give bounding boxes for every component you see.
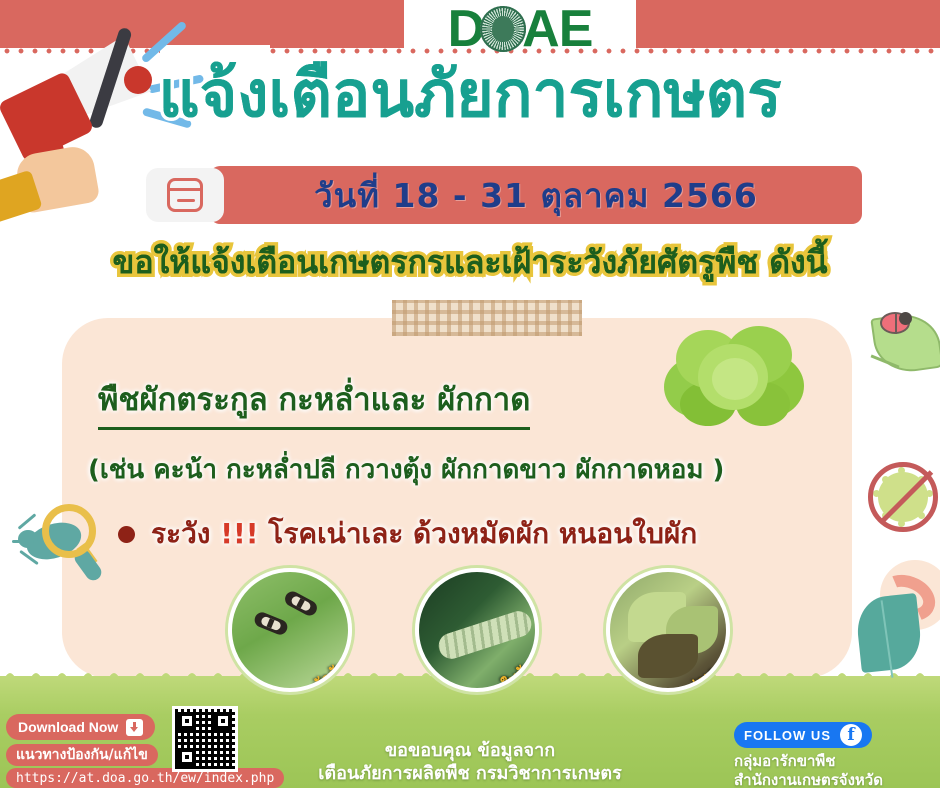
photo-flea-beetle: ด้วงหมัดผัก [228,568,352,692]
warning-marks: !!! [220,517,258,550]
gingham-tape [392,300,582,336]
follow-us-button[interactable]: FOLLOW US f [734,722,872,748]
doae-logo: DAE [404,0,636,62]
photo-leaf-caterpillar: หนอนใบผัก [415,568,539,692]
lettuce-image [660,318,808,438]
subtitle: ขอให้แจ้งเตือนเกษตรกรและเฝ้าระวังภัยศัตร… [0,243,940,281]
facebook-icon[interactable]: f [840,724,862,746]
org-line-1: กลุ่มอารักขาพืช [734,752,940,771]
photo-soft-rot: โรคเน่าเละ [606,568,730,692]
ladybug-on-leaf-icon [866,300,940,380]
organization-block: กลุ่มอารักขาพืช สำนักงานเกษตรจังหวัดปทุม… [734,752,940,788]
doae-logo-right: AE [522,0,592,59]
poster-title: แจ้งเตือนภัยการเกษตร [0,62,940,129]
date-bar: วันที่ 18 - 31 ตุลาคม 2566 [146,166,862,224]
warning-text: ระวัง !!! โรคเน่าเละ ด้วงหมัดผัก หนอนใบผ… [151,512,697,556]
bug-under-magnifier-icon [2,486,110,590]
warning-pests: โรคเน่าเละ ด้วงหมัดผัก หนอนใบผัก [268,517,697,550]
org-line-2: สำนักงานเกษตรจังหวัดปทุมธานี [734,771,940,788]
doae-seal-icon [480,6,526,52]
download-icon [126,719,143,736]
crop-examples: (เช่น คะน้า กะหล่ำปลี กวางตุ้ง ผักกาดขาว… [88,449,724,490]
bullet-icon [118,526,135,543]
download-now-button[interactable]: Download Now [6,714,155,740]
download-label: Download Now [18,719,118,735]
date-pill: วันที่ 18 - 31 ตุลาคม 2566 [210,166,862,224]
follow-us-label: FOLLOW US [744,728,831,743]
calendar-icon [167,178,203,212]
warning-row: ระวัง !!! โรคเน่าเละ ด้วงหมัดผัก หนอนใบผ… [118,512,697,556]
infographic-poster: DAE แจ้งเตือนภัยการเกษตร แจ้งเตือนภัยการ… [0,0,940,788]
date-icon-box [146,168,224,222]
date-text: วันที่ 18 - 31 ตุลาคม 2566 [314,169,758,222]
worm-on-leaf-icon [852,578,940,688]
no-germ-icon [866,460,940,534]
doae-logo-left: D [448,0,485,59]
warning-label: ระวัง [151,517,210,550]
crop-heading: พืชผักตระกูล กะหล่ำและ ผักกาด [98,374,530,430]
